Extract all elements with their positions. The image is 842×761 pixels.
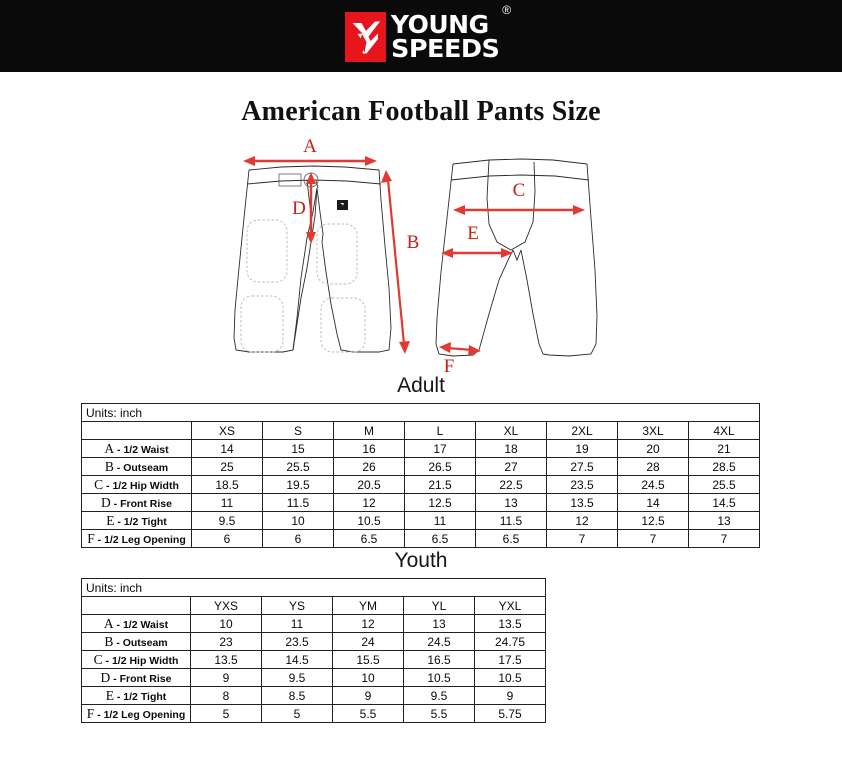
size-column-header: YXS [191, 597, 262, 615]
measurement-name: - 1/2 Leg Opening [94, 709, 185, 721]
size-column-header: YS [262, 597, 333, 615]
measurement-value: 8 [191, 687, 262, 705]
size-column-header: YL [404, 597, 475, 615]
measurement-value: 11 [405, 512, 476, 530]
measurement-row-label: D - Front Rise [82, 669, 191, 687]
measure-label-e: E [467, 223, 479, 244]
youngspeeds-swoosh-mark-icon [345, 12, 386, 62]
units-row: Units: inch [82, 579, 546, 597]
measurement-value: 18.5 [192, 476, 263, 494]
measurement-name: - Outseam [113, 637, 167, 649]
measurement-value: 12.5 [618, 512, 689, 530]
measurement-letter: F [87, 531, 95, 546]
measurement-value: 13 [476, 494, 547, 512]
section-label-adult: Adult [0, 374, 842, 398]
adult-size-table: Units: inchXSSMLXL2XL3XL4XLA - 1/2 Waist… [81, 403, 760, 548]
measurement-value: 16.5 [404, 651, 475, 669]
measurement-value: 5.5 [404, 705, 475, 723]
measurement-value: 23.5 [262, 633, 333, 651]
measurement-value: 17.5 [475, 651, 546, 669]
measurement-value: 13.5 [547, 494, 618, 512]
measurement-value: 8.5 [262, 687, 333, 705]
measure-arrow-b [381, 170, 410, 354]
measure-label-c: C [513, 180, 526, 201]
measurement-value: 28.5 [689, 458, 760, 476]
measurement-value: 5 [191, 705, 262, 723]
measurement-row: D - Front Rise99.51010.510.5 [82, 669, 546, 687]
measurement-value: 15 [263, 440, 334, 458]
measurement-value: 22.5 [476, 476, 547, 494]
measurement-value: 11 [192, 494, 263, 512]
logo-text-speeds: SPEEDS [391, 37, 499, 60]
measurement-row-label: A - 1/2 Waist [82, 440, 192, 458]
measurement-value: 12.5 [405, 494, 476, 512]
youngspeeds-logo[interactable]: YOUNG SPEEDS ® [0, 0, 842, 72]
measurement-row: D - Front Rise1111.51212.51313.51414.5 [82, 494, 760, 512]
measurement-row: E - 1/2 Tight9.51010.51111.51212.513 [82, 512, 760, 530]
measurement-value: 20 [618, 440, 689, 458]
measurement-value: 20.5 [334, 476, 405, 494]
measurement-row-label: B - Outseam [82, 633, 191, 651]
measurement-value: 15.5 [333, 651, 404, 669]
measurement-value: 10.5 [475, 669, 546, 687]
measurement-value: 6.5 [405, 530, 476, 548]
registered-trademark-icon: ® [502, 3, 511, 17]
measurement-name: - 1/2 Waist [114, 619, 168, 631]
size-header-row: XSSMLXL2XL3XL4XL [82, 422, 760, 440]
measurement-letter: B [105, 459, 114, 474]
measurement-row-label: B - Outseam [82, 458, 192, 476]
measurement-value: 9.5 [262, 669, 333, 687]
measurement-value: 6.5 [334, 530, 405, 548]
size-column-header: 3XL [618, 422, 689, 440]
measurement-row-label: E - 1/2 Tight [82, 512, 192, 530]
brand-header-bar: YOUNG SPEEDS ® [0, 0, 842, 72]
page-title: American Football Pants Size [0, 96, 842, 128]
size-header-row: YXSYSYMYLYXL [82, 597, 546, 615]
youth-size-table: Units: inchYXSYSYMYLYXLA - 1/2 Waist1011… [81, 578, 546, 723]
measurement-value: 10.5 [334, 512, 405, 530]
measurement-row-label: F - 1/2 Leg Opening [82, 530, 192, 548]
measurement-value: 12 [547, 512, 618, 530]
measurement-value: 13 [689, 512, 760, 530]
measurement-value: 11.5 [263, 494, 334, 512]
measurement-name: - 1/2 Leg Opening [95, 534, 186, 546]
measurement-value: 7 [618, 530, 689, 548]
units-row: Units: inch [82, 404, 760, 422]
pants-brand-label-patch [337, 200, 348, 210]
size-column-header: XS [192, 422, 263, 440]
measure-arrow-a [243, 156, 377, 166]
measurement-value: 11.5 [476, 512, 547, 530]
measurement-row: C - 1/2 Hip Width13.514.515.516.517.5 [82, 651, 546, 669]
measurement-name: - 1/2 Tight [114, 516, 166, 528]
measurement-row: E - 1/2 Tight88.599.59 [82, 687, 546, 705]
measurement-value: 16 [334, 440, 405, 458]
size-column-header: 4XL [689, 422, 760, 440]
units-label: Units: inch [82, 579, 546, 597]
measurement-value: 10 [333, 669, 404, 687]
measurement-name: - Front Rise [110, 673, 171, 685]
measurement-value: 26 [334, 458, 405, 476]
measurement-value: 5 [262, 705, 333, 723]
measurement-row: F - 1/2 Leg Opening666.56.56.5777 [82, 530, 760, 548]
measurement-value: 25.5 [263, 458, 334, 476]
measurement-name: - 1/2 Hip Width [103, 655, 179, 667]
measurement-row-label: E - 1/2 Tight [82, 687, 191, 705]
measurement-value: 14.5 [262, 651, 333, 669]
measurement-row: A - 1/2 Waist1011121313.5 [82, 615, 546, 633]
measurement-value: 21 [689, 440, 760, 458]
measure-label-b: B [407, 232, 420, 253]
measurement-value: 10 [191, 615, 262, 633]
size-column-header: M [334, 422, 405, 440]
measurement-value: 19.5 [263, 476, 334, 494]
pants-front-view [234, 166, 391, 352]
measurement-value: 24.5 [618, 476, 689, 494]
measure-label-f: F [444, 356, 455, 376]
measurement-name: - Front Rise [111, 498, 172, 510]
measurement-row: B - Outseam2323.52424.524.75 [82, 633, 546, 651]
measurement-value: 5.5 [333, 705, 404, 723]
measurement-value: 27 [476, 458, 547, 476]
measurement-row: A - 1/2 Waist1415161718192021 [82, 440, 760, 458]
measurement-value: 25 [192, 458, 263, 476]
measurement-value: 6 [263, 530, 334, 548]
measurement-name: - 1/2 Tight [114, 691, 166, 703]
measurement-name: - 1/2 Waist [114, 444, 168, 456]
football-pants-measurement-diagram: A D B [221, 138, 621, 376]
measurement-value: 25.5 [689, 476, 760, 494]
measurement-value: 21.5 [405, 476, 476, 494]
measurement-value: 19 [547, 440, 618, 458]
measurement-value: 5.75 [475, 705, 546, 723]
size-column-header: 2XL [547, 422, 618, 440]
measurement-row-label: D - Front Rise [82, 494, 192, 512]
measurement-value: 6 [192, 530, 263, 548]
table-corner-cell [82, 422, 192, 440]
measurement-value: 12 [334, 494, 405, 512]
measurement-value: 14 [192, 440, 263, 458]
size-column-header: L [405, 422, 476, 440]
size-column-header: XL [476, 422, 547, 440]
measure-arrow-c [453, 205, 585, 215]
size-column-header: YM [333, 597, 404, 615]
measure-arrow-e [441, 248, 513, 258]
measurement-row: F - 1/2 Leg Opening555.55.55.75 [82, 705, 546, 723]
measurement-value: 18 [476, 440, 547, 458]
measurement-value: 24 [333, 633, 404, 651]
measure-label-d: D [292, 198, 306, 219]
measure-label-a: A [303, 138, 317, 157]
measurement-value: 12 [333, 615, 404, 633]
table-corner-cell [82, 597, 191, 615]
measurement-value: 9 [191, 669, 262, 687]
measurement-letter: C [94, 477, 103, 492]
measurement-value: 17 [405, 440, 476, 458]
size-column-header: S [263, 422, 334, 440]
measurement-value: 9.5 [192, 512, 263, 530]
measurement-row-label: C - 1/2 Hip Width [82, 476, 192, 494]
measurement-value: 10 [263, 512, 334, 530]
measurement-value: 9.5 [404, 687, 475, 705]
measurement-value: 27.5 [547, 458, 618, 476]
measurement-row: C - 1/2 Hip Width18.519.520.521.522.523.… [82, 476, 760, 494]
measurement-value: 28 [618, 458, 689, 476]
measurement-value: 26.5 [405, 458, 476, 476]
measurement-value: 11 [262, 615, 333, 633]
measurement-name: - Outseam [114, 462, 168, 474]
measurement-value: 14 [618, 494, 689, 512]
measurement-row-label: C - 1/2 Hip Width [82, 651, 191, 669]
measurement-value: 23.5 [547, 476, 618, 494]
section-label-youth: Youth [0, 549, 842, 573]
measurement-value: 13.5 [191, 651, 262, 669]
measurement-value: 23 [191, 633, 262, 651]
measurement-letter: D [100, 670, 110, 685]
measurement-value: 13.5 [475, 615, 546, 633]
measurement-value: 9 [333, 687, 404, 705]
measurement-row: B - Outseam2525.52626.52727.52828.5 [82, 458, 760, 476]
measurement-letter: C [94, 652, 103, 667]
measurement-name: - 1/2 Hip Width [103, 480, 179, 492]
measurement-letter: A [104, 441, 114, 456]
measurement-letter: E [106, 688, 114, 703]
measurement-row-label: F - 1/2 Leg Opening [82, 705, 191, 723]
measure-arrow-d [306, 172, 316, 244]
measurement-letter: D [101, 495, 111, 510]
measurement-value: 24.5 [404, 633, 475, 651]
measurement-value: 6.5 [476, 530, 547, 548]
size-column-header: YXL [475, 597, 546, 615]
measurement-row-label: A - 1/2 Waist [82, 615, 191, 633]
measurement-value: 10.5 [404, 669, 475, 687]
measurement-value: 9 [475, 687, 546, 705]
units-label: Units: inch [82, 404, 760, 422]
measurement-value: 7 [689, 530, 760, 548]
measurement-value: 7 [547, 530, 618, 548]
measurement-value: 24.75 [475, 633, 546, 651]
measurement-value: 13 [404, 615, 475, 633]
measurement-letter: A [104, 616, 114, 631]
measurement-value: 14.5 [689, 494, 760, 512]
